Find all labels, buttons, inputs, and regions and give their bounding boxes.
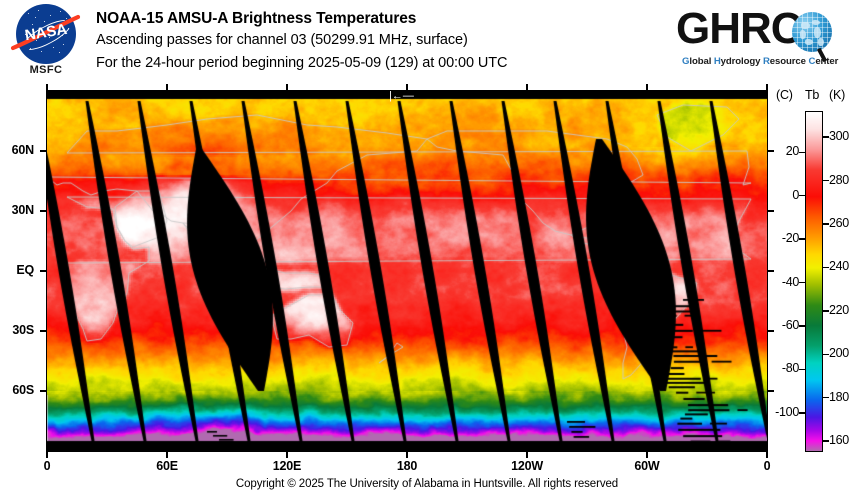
colorbar[interactable] — [805, 111, 823, 452]
colorbar-tick-k: 160 — [829, 433, 849, 447]
colorbar-label: Tb — [805, 88, 819, 102]
y-axis-label: 30N — [0, 203, 34, 217]
x-axis-label: 120E — [257, 459, 317, 473]
map-plot-area[interactable] — [46, 90, 768, 452]
x-axis-label: 120W — [497, 459, 557, 473]
x-axis-label: 60W — [617, 459, 677, 473]
y-axis-label: 60S — [0, 383, 34, 397]
colorbar-gradient — [806, 112, 822, 451]
colorbar-unit-kelvin: (K) — [829, 88, 845, 102]
colorbar-tick-c: -100 — [765, 405, 799, 419]
x-axis-label: 60E — [137, 459, 197, 473]
colorbar-tick-k: 240 — [829, 259, 849, 273]
colorbar-tick-k: 180 — [829, 390, 849, 404]
swath-direction-marker: |←— — [389, 91, 414, 102]
y-axis-label: 60N — [0, 143, 34, 157]
y-axis-label: 30S — [0, 323, 34, 337]
colorbar-tick-k: 280 — [829, 173, 849, 187]
page-subtitle: Ascending passes for channel 03 (50299.9… — [96, 29, 696, 52]
page-title: NOAA-15 AMSU-A Brightness Temperatures — [96, 8, 696, 29]
x-axis-label: 0 — [17, 459, 77, 473]
colorbar-tick-k: 260 — [829, 216, 849, 230]
colorbar-tick-c: 0 — [765, 188, 799, 202]
colorbar-tick-k: 220 — [829, 303, 849, 317]
ghrc-wordmark: GHRC — [676, 6, 802, 52]
colorbar-tick-c: -60 — [765, 318, 799, 332]
brightness-temperature-map[interactable] — [47, 91, 767, 451]
ghrc-tagline: Global Hydrology Resource Center — [682, 56, 838, 67]
y-axis-label: EQ — [0, 263, 34, 277]
ghrc-logo: GHRC Global Hydrology Resource Center — [676, 6, 836, 76]
x-axis-label: 180 — [377, 459, 437, 473]
title-block: NOAA-15 AMSU-A Brightness Temperatures A… — [96, 8, 696, 75]
colorbar-tick-k: 200 — [829, 346, 849, 360]
colorbar-tick-c: -40 — [765, 275, 799, 289]
colorbar-tick-c: -80 — [765, 361, 799, 375]
colorbar-tick-c: -20 — [765, 231, 799, 245]
nasa-logo: NASA MSFC — [8, 4, 84, 80]
colorbar-tick-k: 300 — [829, 129, 849, 143]
copyright-notice: Copyright © 2025 The University of Alaba… — [0, 478, 854, 490]
x-axis-label: 0 — [737, 459, 797, 473]
page-period: For the 24-hour period beginning 2025-05… — [96, 52, 696, 75]
globe-icon — [792, 12, 832, 52]
colorbar-tick-c: 20 — [765, 144, 799, 158]
nasa-center-label: MSFC — [8, 64, 84, 76]
colorbar-unit-celsius: (C) — [776, 88, 793, 102]
visualization-page: NASA MSFC NOAA-15 AMSU-A Brightness Temp… — [0, 0, 854, 502]
